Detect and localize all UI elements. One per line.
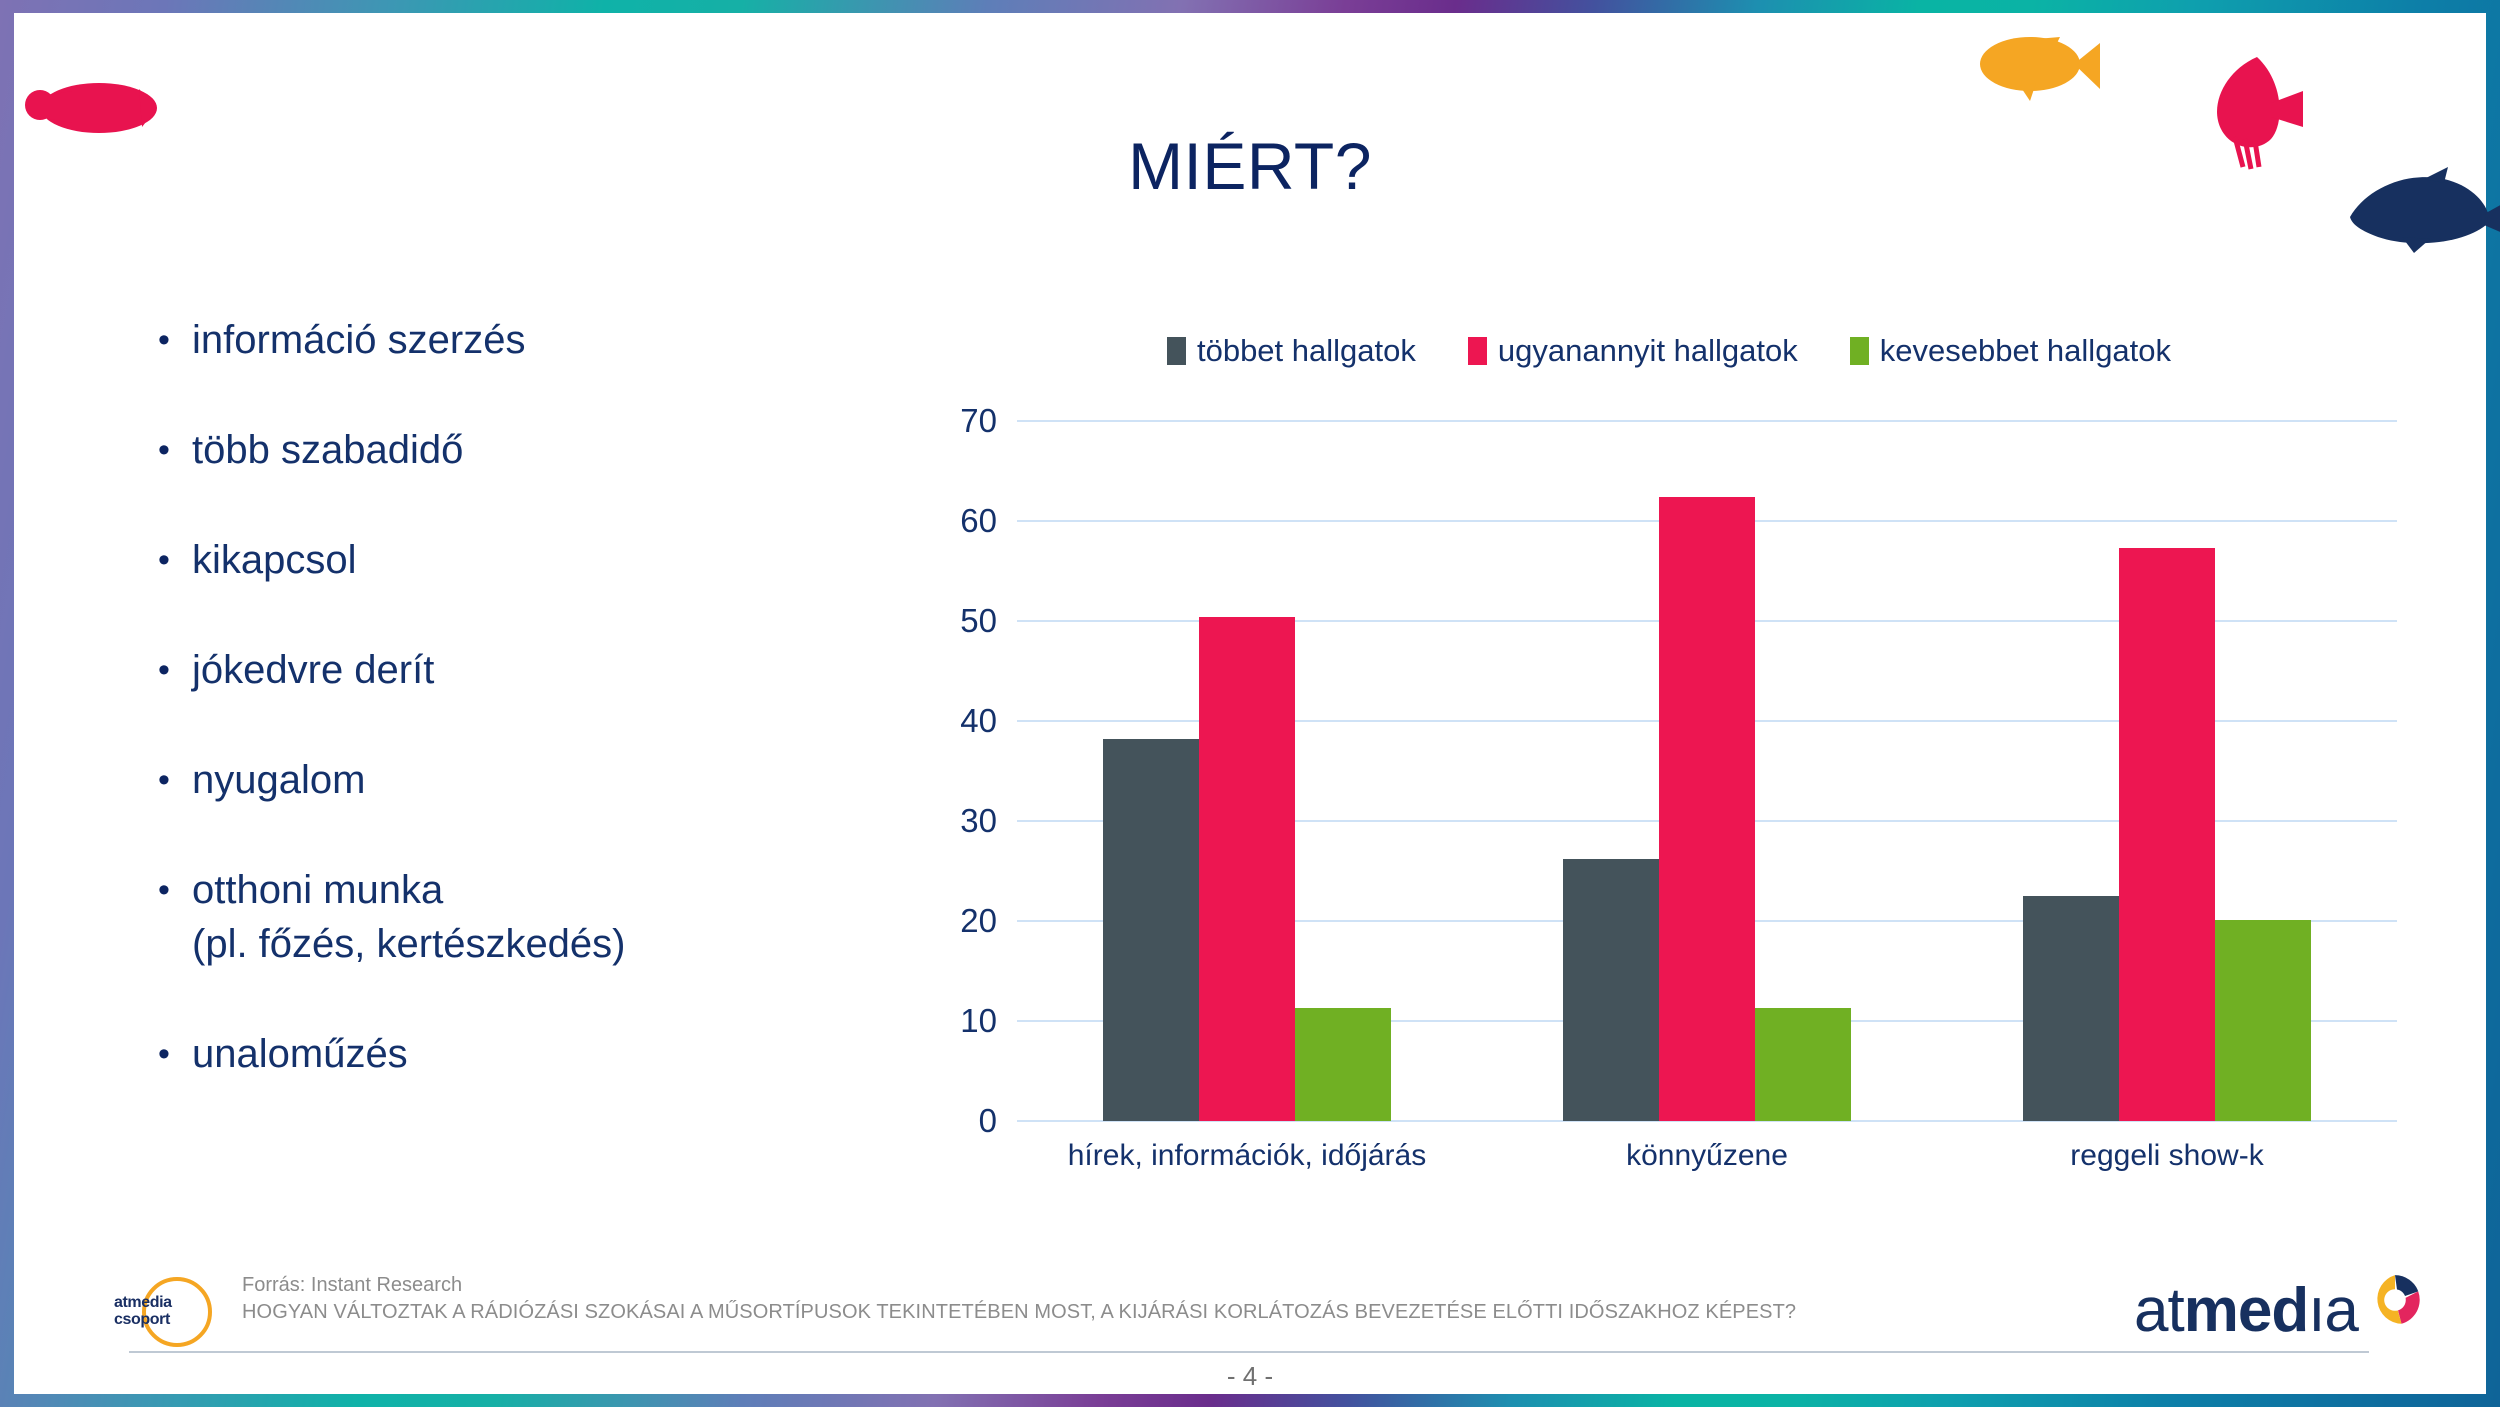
atmedia-word-bold: med [2184, 1276, 2308, 1345]
y-axis-tick-label: 50 [917, 602, 997, 640]
list-item-label: kikapcsol [192, 533, 357, 587]
x-axis-tick-label: könnyűzene [1477, 1139, 1937, 1173]
atmedia-word-tail: ıa [2308, 1276, 2358, 1345]
x-axis-tick-label: reggeli show-k [1937, 1139, 2397, 1173]
slide-canvas: MIÉRT? •információ szerzés•több szabadid… [14, 13, 2486, 1394]
list-item-label: információ szerzés [192, 313, 525, 367]
y-axis-tick-label: 20 [917, 902, 997, 940]
bullet-list: •információ szerzés•több szabadidő•kikap… [144, 313, 904, 1137]
list-item-label: otthoni munka (pl. főzés, kertészkedés) [192, 863, 626, 971]
bar[interactable] [1755, 1008, 1851, 1121]
bar-group [1017, 421, 1477, 1121]
atmedia-mark-icon [2368, 1273, 2422, 1327]
legend-item[interactable]: kevesebbet hallgatok [1850, 333, 2171, 369]
bullet-marker-icon: • [144, 313, 192, 367]
chart-plot-area: 010203040506070 hírek, információk, időj… [919, 421, 2419, 1181]
page-number: - 4 - [14, 1361, 2486, 1392]
logo-left-line2: csoport [114, 1311, 204, 1328]
bar[interactable] [1295, 1008, 1391, 1121]
y-axis-tick-label: 30 [917, 802, 997, 840]
list-item-label: jókedvre derít [192, 643, 434, 697]
bar[interactable] [2119, 548, 2215, 1121]
flounder-fish-icon [24, 73, 164, 143]
legend-item[interactable]: ugyanannyit hallgatok [1468, 333, 1798, 369]
legend-label: ugyanannyit hallgatok [1498, 333, 1798, 369]
y-axis-tick-label: 70 [917, 402, 997, 440]
y-axis: 010203040506070 [919, 421, 1007, 1121]
bar-chart: többet hallgatokugyanannyit hallgatokkev… [919, 333, 2419, 1263]
bar[interactable] [1199, 617, 1295, 1121]
x-axis-tick-label: hírek, információk, időjárás [1017, 1139, 1477, 1173]
bar-groups [1017, 421, 2397, 1121]
legend-item[interactable]: többet hallgatok [1167, 333, 1416, 369]
list-item: •információ szerzés [144, 313, 904, 367]
bullet-marker-icon: • [144, 643, 192, 697]
bullet-marker-icon: • [144, 533, 192, 587]
y-axis-tick-label: 40 [917, 702, 997, 740]
y-axis-tick-label: 0 [917, 1102, 997, 1140]
list-item: •kikapcsol [144, 533, 904, 587]
list-item-label: unaloműzés [192, 1027, 408, 1081]
atmedia-logo: atmedıa [2134, 1271, 2424, 1351]
atmedia-wordmark: atmedıa [2134, 1275, 2358, 1346]
slide-frame: MIÉRT? •információ szerzés•több szabadid… [0, 0, 2500, 1407]
angelfish-icon [2199, 53, 2319, 173]
legend-swatch-icon [1850, 337, 1869, 365]
atmedia-csoport-logo: atmedia csoport [114, 1275, 212, 1351]
bar[interactable] [1103, 739, 1199, 1121]
chart-legend: többet hallgatokugyanannyit hallgatokkev… [919, 333, 2419, 369]
list-item-label: több szabadidő [192, 423, 463, 477]
page-title: MIÉRT? [14, 128, 2486, 204]
y-axis-tick-label: 10 [917, 1002, 997, 1040]
bullet-marker-icon: • [144, 753, 192, 807]
plot-canvas [1017, 421, 2397, 1121]
legend-label: többet hallgatok [1197, 333, 1416, 369]
bar[interactable] [1563, 859, 1659, 1121]
bar-group [1937, 421, 2397, 1121]
list-item: •otthoni munka (pl. főzés, kertészkedés) [144, 863, 904, 971]
list-item: •több szabadidő [144, 423, 904, 477]
bullet-marker-icon: • [144, 423, 192, 477]
list-item-label: nyugalom [192, 753, 365, 807]
bullet-marker-icon: • [144, 1027, 192, 1081]
list-item: •unaloműzés [144, 1027, 904, 1081]
legend-label: kevesebbet hallgatok [1880, 333, 2171, 369]
atmedia-word-light: at [2134, 1276, 2184, 1345]
list-item: •nyugalom [144, 753, 904, 807]
x-axis: hírek, információk, időjáráskönnyűzenere… [1017, 1139, 2397, 1173]
legend-swatch-icon [1167, 337, 1186, 365]
bar[interactable] [2023, 896, 2119, 1121]
bullet-marker-icon: • [144, 863, 192, 917]
bar-group [1477, 421, 1937, 1121]
legend-swatch-icon [1468, 337, 1487, 365]
footer-divider [129, 1351, 2369, 1353]
bar[interactable] [2215, 920, 2311, 1121]
clownfish-icon [1974, 31, 2104, 103]
logo-left-text: atmedia csoport [114, 1294, 204, 1328]
survey-question: HOGYAN VÁLTOZTAK A RÁDIÓZÁSI SZOKÁSAI A … [242, 1301, 1796, 1324]
y-axis-tick-label: 60 [917, 502, 997, 540]
list-item: •jókedvre derít [144, 643, 904, 697]
source-label: Forrás: Instant Research [242, 1271, 462, 1299]
tuna-fish-icon [2344, 163, 2500, 253]
logo-left-line1: atmedia [114, 1294, 204, 1311]
bar[interactable] [1659, 497, 1755, 1121]
